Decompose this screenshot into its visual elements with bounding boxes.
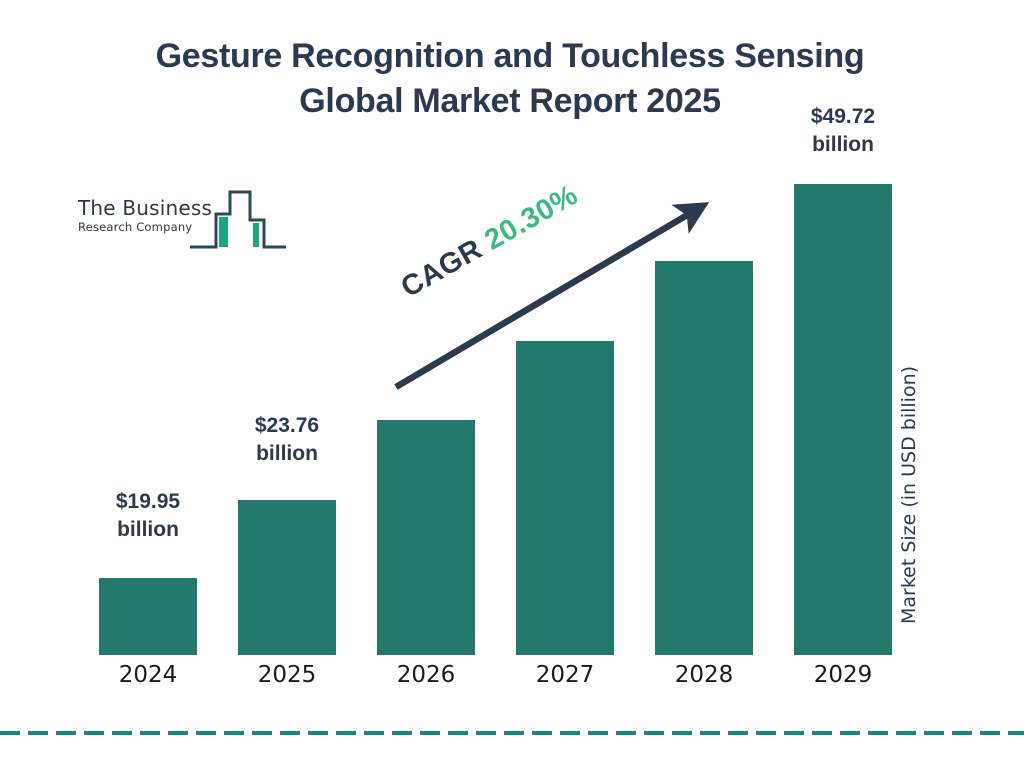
bar-value-label-2024-line2: billion — [79, 516, 217, 544]
bar-chart-plot-area: $19.95 billion $23.76 billion $49.72 bil… — [0, 0, 1024, 768]
bar-value-label-2029-line1: $49.72 — [774, 103, 912, 131]
x-tick-label-2027: 2027 — [516, 662, 614, 688]
footer-divider — [0, 731, 1024, 735]
bar-value-label-2024: $19.95 billion — [79, 488, 217, 543]
bar-value-label-2025-line2: billion — [218, 440, 356, 468]
bar-value-label-2029-line2: billion — [774, 131, 912, 159]
x-tick-label-2029: 2029 — [794, 662, 892, 688]
bar-value-label-2024-line1: $19.95 — [79, 488, 217, 516]
x-tick-label-2028: 2028 — [655, 662, 753, 688]
bar-2025 — [238, 500, 336, 655]
bar-value-label-2029: $49.72 billion — [774, 103, 912, 158]
bar-2026 — [377, 420, 475, 655]
x-tick-label-2025: 2025 — [238, 662, 336, 688]
y-axis-title-text: Market Size (in USD billion) — [898, 330, 920, 660]
chart-canvas: Gesture Recognition and Touchless Sensin… — [0, 0, 1024, 768]
y-axis-title: Market Size (in USD billion) — [898, 0, 932, 330]
x-tick-label-2026: 2026 — [377, 662, 475, 688]
x-tick-label-2024: 2024 — [99, 662, 197, 688]
bar-value-label-2025: $23.76 billion — [218, 412, 356, 467]
bar-value-label-2025-line1: $23.76 — [218, 412, 356, 440]
bar-2024 — [99, 578, 197, 655]
bar-2029 — [794, 184, 892, 655]
